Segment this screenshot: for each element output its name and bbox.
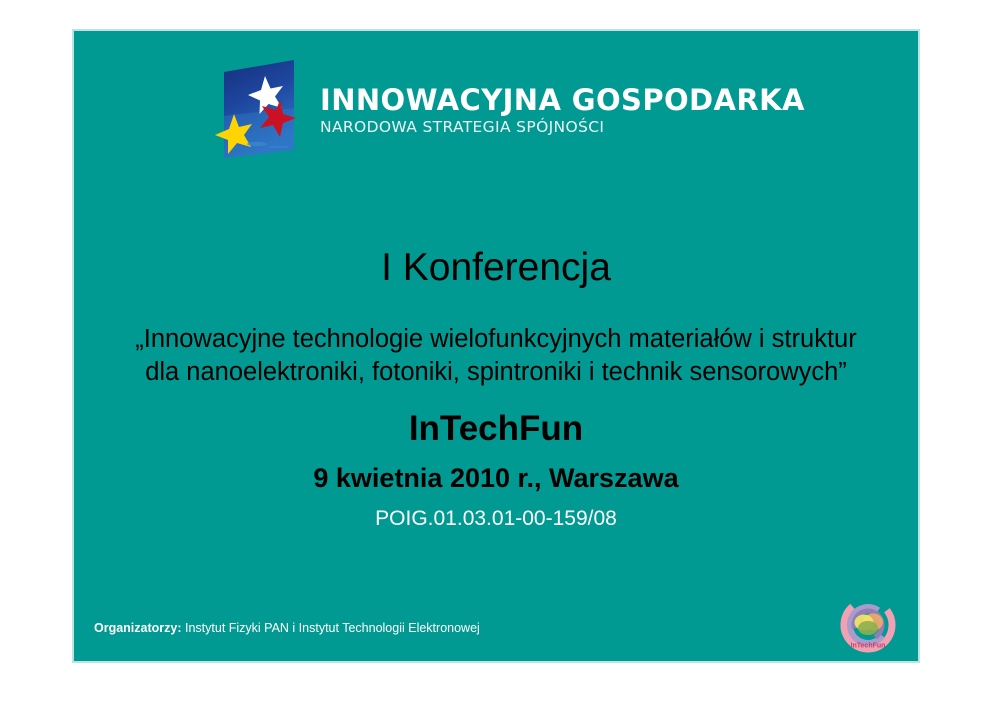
- slide-canvas: INNOWACYJNA GOSPODARKA NARODOWA STRATEGI…: [0, 0, 992, 701]
- project-number: POIG.01.03.01-00-159/08: [74, 506, 918, 531]
- presentation-slide: INNOWACYJNA GOSPODARKA NARODOWA STRATEGI…: [72, 29, 920, 663]
- conference-theme: „Innowacyjne technologie wielofunkcyjnyc…: [126, 323, 866, 388]
- eu-innowacyjna-gospodarka-emblem-icon: [210, 58, 302, 160]
- project-acronym: InTechFun: [74, 410, 918, 449]
- conference-ordinal: I Konferencja: [74, 247, 918, 290]
- event-date: 9 kwietnia 2010 r., Warszawa: [74, 463, 918, 494]
- footer-organizers-label: Organizatorzy:: [94, 621, 182, 635]
- footer-organizers: Organizatorzy: Instytut Fizyki PAN i Ins…: [94, 621, 480, 636]
- intechfun-logo-caption: InTechFun: [851, 643, 886, 650]
- header-subtitle: NARODOWA STRATEGIA SPÓJNOŚCI: [320, 119, 805, 137]
- header-text-group: INNOWACYJNA GOSPODARKA NARODOWA STRATEGI…: [320, 81, 805, 137]
- main-text-block: I Konferencja „Innowacyjne technologie w…: [74, 247, 918, 531]
- header-title: INNOWACYJNA GOSPODARKA: [320, 85, 805, 116]
- intechfun-swirl-logo-icon: InTechFun: [840, 597, 896, 653]
- footer-organizers-value: Instytut Fizyki PAN i Instytut Technolog…: [185, 621, 480, 635]
- header-block: INNOWACYJNA GOSPODARKA NARODOWA STRATEGI…: [210, 58, 805, 160]
